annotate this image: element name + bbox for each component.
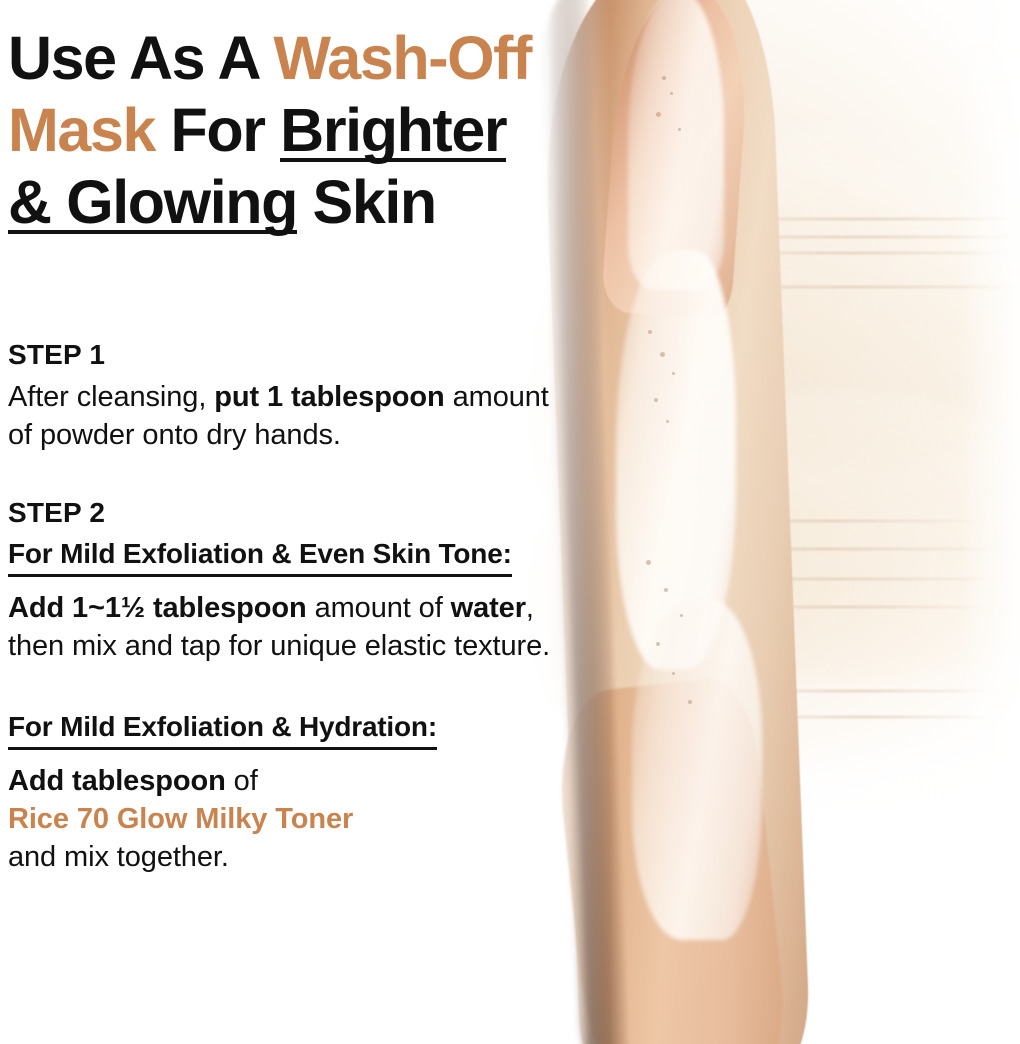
step-1-text-pre: After cleansing, [8, 381, 214, 413]
foam-bubble [670, 92, 673, 95]
foam-bubble [660, 352, 665, 357]
hydration-text-bold: Add tablespoon [8, 765, 226, 797]
foam-bubble [672, 372, 675, 375]
step-2-text-mid: amount of [307, 592, 451, 624]
foam-bubble [680, 614, 683, 617]
foam-bubble [656, 112, 661, 117]
step-2-label: STEP 2 [8, 496, 568, 530]
mask-foam-lower [632, 600, 762, 940]
step-1-label: STEP 1 [8, 338, 568, 372]
step-1-body: After cleansing, put 1 tablespoon amount… [8, 378, 568, 454]
foam-bubble [662, 76, 666, 80]
title-line-2-accent: Mask [8, 96, 155, 164]
hydration-body: Add tablespoon of Rice 70 Glow Milky Ton… [8, 762, 568, 876]
spacer [8, 454, 568, 496]
foam-bubble [672, 672, 675, 675]
foam-bubble [648, 330, 652, 334]
page-title: Use As A Wash-Off Mask For Brighter & Gl… [8, 22, 628, 238]
hydration-text-post: and mix together. [8, 841, 229, 873]
foam-bubble [646, 560, 651, 565]
mask-foam-upper [628, 0, 724, 290]
step-2-text-bold2: water [451, 592, 526, 624]
title-line-2-plain: For [155, 96, 280, 164]
step-2-subheading: For Mild Exfoliation & Even Skin Tone: [8, 536, 512, 577]
hydration-option: For Mild Exfoliation & Hydration: Add ta… [8, 709, 568, 876]
product-name: Rice 70 Glow Milky Toner [8, 803, 353, 835]
page-root: Use As A Wash-Off Mask For Brighter & Gl… [0, 0, 1020, 1044]
step-1: STEP 1 After cleansing, put 1 tablespoon… [8, 338, 568, 454]
foam-bubble [656, 642, 660, 646]
title-line-1-plain: Use As A [8, 24, 273, 92]
step-2-text-bold: Add 1~1½ tablespoon [8, 592, 307, 624]
photo-right-fade [960, 0, 1020, 1044]
hydration-subheading: For Mild Exfoliation & Hydration: [8, 709, 437, 750]
step-1-text-bold: put 1 tablespoon [214, 381, 444, 413]
spacer [8, 665, 568, 709]
title-line-2-underlined: Brighter [280, 96, 506, 165]
title-line-3-plain: Skin [297, 168, 436, 236]
step-2-body: Add 1~1½ tablespoon amount of water, the… [8, 589, 568, 665]
instructions-list: STEP 1 After cleansing, put 1 tablespoon… [8, 338, 568, 876]
foam-bubble [666, 420, 669, 423]
title-line-1-accent: Wash-Off [273, 24, 531, 92]
hydration-text-mid: of [226, 765, 258, 797]
foam-bubble [688, 700, 692, 704]
foam-bubble [654, 398, 658, 402]
foam-bubble [678, 128, 681, 131]
step-2: STEP 2 For Mild Exfoliation & Even Skin … [8, 496, 568, 665]
foam-bubble [664, 588, 668, 592]
title-line-3-underlined: & Glowing [8, 168, 297, 237]
